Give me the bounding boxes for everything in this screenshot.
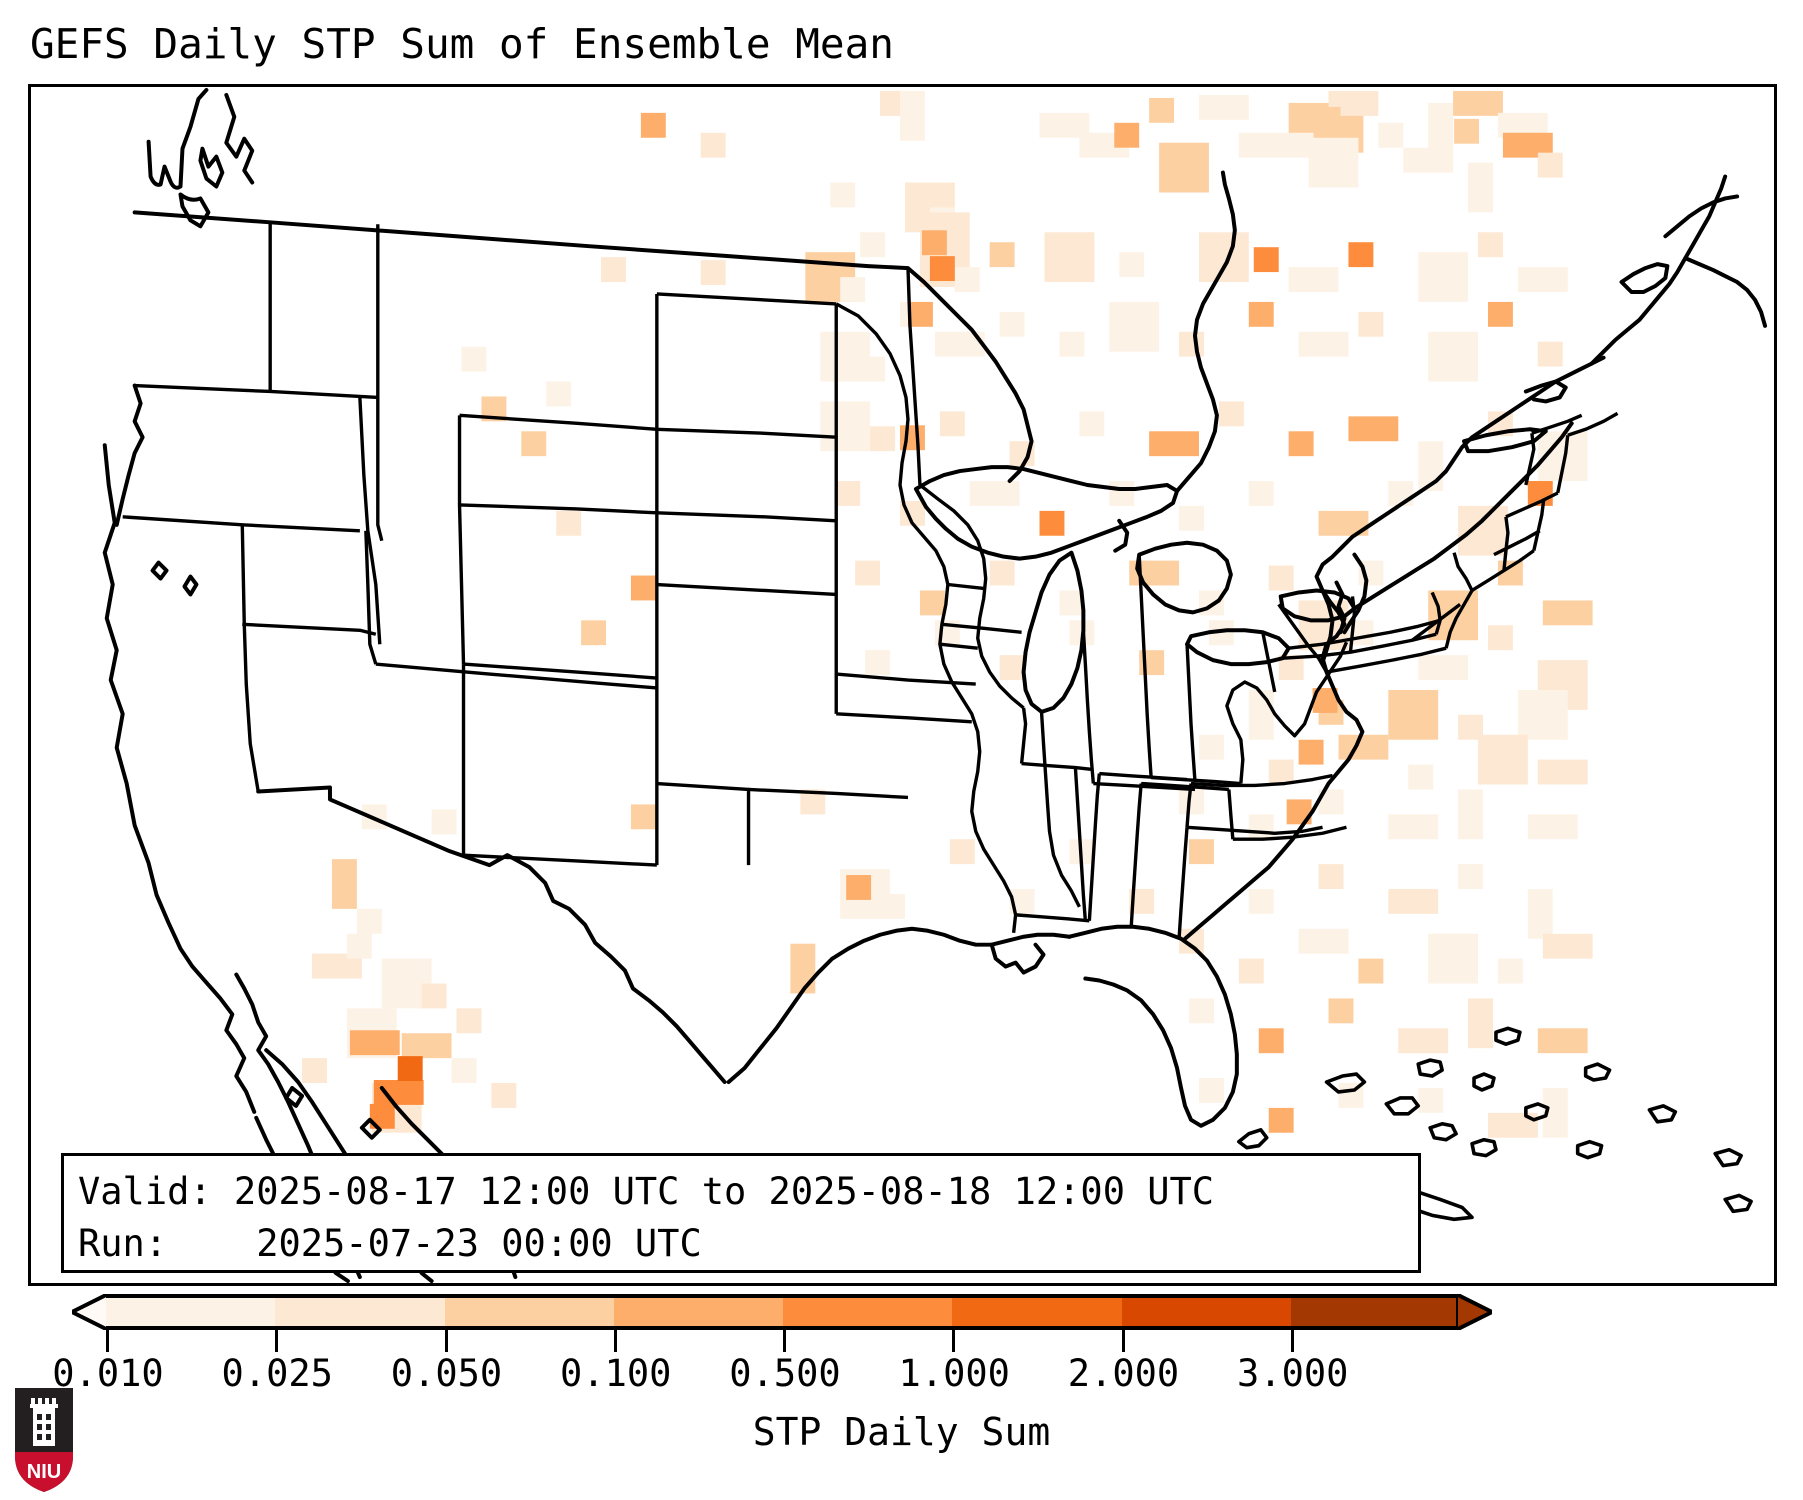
- colorbar-tick-4: [783, 1330, 786, 1352]
- grid-cell: [1045, 232, 1095, 282]
- colorbar-segment-6: [1122, 1298, 1291, 1326]
- grid-cell: [1239, 959, 1264, 984]
- grid-cell: [641, 113, 666, 138]
- grid-cell: [556, 511, 581, 536]
- grid-cell: [1348, 242, 1373, 267]
- colorbar-axis-label: STP Daily Sum: [0, 1410, 1803, 1454]
- grid-cell: [1040, 511, 1065, 536]
- grid-cell: [1388, 814, 1438, 839]
- grid-cell: [1269, 760, 1294, 785]
- grid-cell: [1428, 332, 1478, 382]
- grid-cell: [1149, 431, 1199, 456]
- grid-cell-hotspot: [846, 875, 871, 900]
- colorbar-tick-label-5: 1.000: [899, 1352, 1010, 1395]
- grid-cell: [452, 1058, 477, 1083]
- grid-cell: [1299, 600, 1349, 650]
- grid-cell: [631, 576, 656, 601]
- page-title: GEFS Daily STP Sum of Ensemble Mean: [30, 20, 894, 68]
- grid-cell-hotspot: [1291, 107, 1341, 132]
- grid-cell: [1114, 123, 1139, 148]
- grid-cell: [1119, 252, 1144, 277]
- grid-cell: [457, 1008, 482, 1033]
- grid-cell: [1109, 302, 1159, 352]
- grid-cell: [1254, 247, 1279, 272]
- grid-cell: [1538, 342, 1563, 367]
- grid-cell: [462, 347, 487, 372]
- grid-cell: [1518, 690, 1568, 740]
- grid-cell: [1468, 163, 1493, 213]
- grid-cell: [347, 934, 372, 959]
- grid-cell: [1488, 302, 1513, 327]
- grid-cell: [1249, 814, 1274, 839]
- grid-cell: [1458, 506, 1508, 556]
- grid-cell: [900, 501, 925, 526]
- colorbar-tick-label-2: 0.050: [391, 1352, 502, 1395]
- grid-cell-hotspot: [374, 1080, 424, 1105]
- grid-cell: [1528, 889, 1553, 939]
- grid-cell: [950, 839, 975, 864]
- grid-cell: [1149, 98, 1174, 123]
- grid-cell: [1249, 690, 1274, 740]
- grid-cell: [1010, 889, 1035, 914]
- grid-cell: [860, 232, 885, 257]
- grid-cell: [1319, 511, 1369, 536]
- grid-cell: [1458, 789, 1483, 839]
- colorbar-segment-7: [1291, 1298, 1460, 1326]
- grid-cell: [1498, 959, 1523, 984]
- grid-cell: [1000, 312, 1025, 337]
- grid-cell: [1378, 123, 1403, 148]
- grid-cell: [1189, 839, 1214, 864]
- grid-cell: [1543, 1088, 1568, 1138]
- grid-cell: [855, 561, 880, 586]
- grid-cell: [970, 481, 1020, 506]
- grid-cell: [920, 590, 945, 615]
- grid-cell: [1059, 332, 1084, 357]
- colorbar-segment-5: [952, 1298, 1121, 1326]
- figure-root: GEFS Daily STP Sum of Ensemble Mean Vali…: [0, 0, 1803, 1500]
- grid-cell: [1139, 650, 1164, 675]
- grid-cell: [1408, 765, 1433, 790]
- grid-cell: [1289, 267, 1339, 292]
- grid-cell: [1388, 481, 1413, 506]
- grid-cell: [1069, 620, 1094, 645]
- grid-cell: [1418, 252, 1468, 302]
- grid-cell: [1179, 332, 1204, 357]
- grid-cell: [1189, 998, 1214, 1023]
- grid-cell-hotspot: [398, 1056, 423, 1081]
- grid-cell: [1000, 655, 1025, 680]
- colorbar-tick-3: [614, 1330, 617, 1352]
- grid-cell: [1299, 929, 1349, 954]
- grid-cell: [1129, 889, 1154, 914]
- grid-cell: [701, 260, 726, 285]
- grid-cell: [1478, 232, 1503, 257]
- grid-cell: [1468, 998, 1493, 1048]
- grid-cell: [332, 859, 357, 909]
- grid-cell: [870, 426, 895, 451]
- grid-cell: [1358, 312, 1383, 337]
- colorbar-segment-4: [783, 1298, 952, 1326]
- grid-cell: [1388, 690, 1438, 740]
- map-panel[interactable]: Valid: 2025-08-17 12:00 UTC to 2025-08-1…: [28, 84, 1777, 1286]
- grid-cell: [1388, 889, 1438, 914]
- grid-cell: [1289, 431, 1314, 456]
- grid-cell: [1179, 789, 1204, 814]
- grid-cell: [1319, 789, 1344, 814]
- grid-cell: [1453, 91, 1503, 116]
- grid-cell-hotspot: [350, 1030, 400, 1055]
- colorbar-tick-label-1: 0.025: [222, 1352, 333, 1395]
- grid-cell: [1428, 934, 1478, 984]
- grid-cell: [432, 809, 457, 834]
- grid-cell: [1403, 148, 1453, 173]
- grid-cell: [1059, 590, 1084, 615]
- grid-cell-hotspot: [1299, 740, 1324, 765]
- colorbar-tick-label-4: 0.500: [729, 1352, 840, 1395]
- colorbar-tick-label-6: 2.000: [1068, 1352, 1179, 1395]
- grid-cell: [820, 401, 870, 451]
- grid-cell: [1179, 929, 1204, 954]
- grid-cell-hotspot: [908, 302, 933, 327]
- grid-cell-hotspot: [1287, 799, 1312, 824]
- grid-cell-hotspot: [900, 425, 925, 450]
- grid-cell: [1358, 561, 1383, 586]
- colorbar-under-arrow: [72, 1294, 108, 1330]
- grid-cell: [1538, 153, 1563, 178]
- grid-cell: [1348, 620, 1373, 645]
- grid-cell: [1498, 561, 1523, 586]
- grid-cell: [1109, 481, 1134, 506]
- grid-cell: [581, 620, 606, 645]
- niu-logo: NIU: [13, 1386, 75, 1494]
- grid-cell: [1538, 760, 1588, 785]
- grid-cell: [1528, 814, 1578, 839]
- grid-cell: [1398, 1028, 1448, 1053]
- grid-cell: [1199, 735, 1224, 760]
- colorbar-tick-1: [275, 1330, 278, 1352]
- grid-cell: [1259, 1028, 1284, 1053]
- grid-cell: [880, 894, 905, 919]
- grid-cell: [1428, 590, 1478, 640]
- colorbar-segment-1: [275, 1298, 444, 1326]
- grid-cell: [1528, 481, 1553, 506]
- colorbar-tick-6: [1122, 1330, 1125, 1352]
- grid-cell: [601, 257, 626, 282]
- grid-cell: [1179, 506, 1204, 531]
- grid-cell: [900, 91, 925, 141]
- grid-cell: [1338, 735, 1388, 760]
- grid-cell: [1129, 561, 1179, 586]
- colorbar-segments: [106, 1294, 1460, 1330]
- grid-cell: [865, 650, 890, 675]
- grid-cell: [1358, 959, 1383, 984]
- grid-cell: [1069, 839, 1094, 864]
- grid-cell: [521, 431, 546, 456]
- grid-cell: [546, 382, 571, 407]
- colorbar-tick-label-3: 0.100: [560, 1352, 671, 1395]
- grid-cell: [1488, 625, 1513, 650]
- grid-cell-hotspot: [930, 256, 955, 281]
- grid-cell: [481, 396, 506, 421]
- colorbar-segment-0: [106, 1298, 275, 1326]
- grid-cell: [1418, 441, 1443, 491]
- grid-cell: [1418, 655, 1468, 680]
- niu-logo-text: NIU: [27, 1461, 61, 1483]
- stp-heatmap-layer: [31, 87, 1774, 1283]
- grid-cell: [835, 481, 860, 506]
- grid-cell: [1309, 138, 1359, 188]
- map-canvas: Valid: 2025-08-17 12:00 UTC to 2025-08-1…: [31, 87, 1774, 1283]
- colorbar-tick-labels: 0.0100.0250.0500.1000.5001.0002.0003.000: [0, 1352, 1803, 1398]
- grid-cell: [631, 804, 656, 829]
- grid-cell: [1329, 998, 1354, 1023]
- grid-cell: [1418, 1088, 1443, 1113]
- grid-cell: [1299, 332, 1349, 357]
- colorbar-tick-0: [106, 1330, 109, 1352]
- grid-cell: [1199, 1078, 1224, 1103]
- grid-cell: [1239, 133, 1314, 158]
- colorbar-ticks: [72, 1330, 1492, 1352]
- grid-cell: [1199, 590, 1224, 615]
- grid-cell: [1458, 864, 1483, 889]
- grid-cell: [362, 804, 387, 829]
- colorbar-tick-5: [952, 1330, 955, 1352]
- grid-cell-hotspot: [1454, 119, 1479, 144]
- grid-cell: [1249, 302, 1274, 327]
- grid-cell: [860, 357, 885, 382]
- colorbar-tick-2: [445, 1330, 448, 1352]
- grid-cell: [1338, 1083, 1363, 1108]
- grid-cell: [990, 242, 1015, 267]
- grid-cell: [940, 411, 965, 436]
- valid-run-info-box: Valid: 2025-08-17 12:00 UTC to 2025-08-1…: [61, 1153, 1421, 1273]
- grid-cell: [990, 561, 1015, 586]
- grid-cell: [1219, 401, 1244, 426]
- grid-cell: [1079, 411, 1104, 436]
- grid-cell: [422, 984, 447, 1009]
- grid-cell: [1249, 889, 1274, 914]
- grid-cell: [1209, 620, 1234, 645]
- grid-cell: [830, 183, 855, 208]
- grid-cell: [1159, 143, 1209, 193]
- grid-cell: [1428, 103, 1453, 153]
- grid-cell: [1478, 735, 1528, 785]
- grid-cell: [491, 1083, 516, 1108]
- colorbar-segment-2: [445, 1298, 614, 1326]
- grid-cell: [1518, 267, 1568, 292]
- grid-cell: [1199, 95, 1249, 120]
- grid-cell: [1538, 431, 1588, 481]
- grid-cell: [1279, 655, 1304, 680]
- colorbar-segment-3: [614, 1298, 783, 1326]
- grid-cell: [1543, 600, 1593, 625]
- grid-cell: [402, 1033, 452, 1058]
- grid-cell-hotspot: [370, 1104, 395, 1129]
- grid-cell: [1348, 416, 1398, 441]
- grid-cell-hotspot: [1313, 688, 1338, 713]
- grid-cell: [935, 332, 985, 357]
- grid-cell: [1488, 1113, 1538, 1138]
- grid-cell: [955, 267, 980, 292]
- grid-cell: [1543, 934, 1593, 959]
- grid-cell: [800, 789, 825, 814]
- grid-cell: [701, 133, 726, 158]
- grid-cell: [1010, 441, 1035, 466]
- grid-cell-hotspot: [922, 230, 947, 255]
- grid-cell: [1249, 481, 1274, 506]
- run-time-line: Run: 2025-07-23 00:00 UTC: [78, 1218, 1404, 1270]
- colorbar-tick-7: [1291, 1330, 1294, 1352]
- colorbar-tick-label-7: 3.000: [1237, 1352, 1348, 1395]
- valid-time-line: Valid: 2025-08-17 12:00 UTC to 2025-08-1…: [78, 1166, 1404, 1218]
- grid-cell: [302, 1058, 327, 1083]
- grid-cell: [357, 909, 382, 934]
- colorbar-over-arrow: [1456, 1294, 1492, 1330]
- grid-cell: [1488, 411, 1513, 436]
- grid-cell: [1199, 232, 1249, 282]
- grid-cell: [1269, 1108, 1294, 1133]
- grid-cell: [1538, 1028, 1588, 1053]
- grid-cell: [790, 944, 815, 994]
- grid-cell: [1269, 566, 1294, 591]
- grid-cell: [935, 620, 960, 645]
- grid-cell: [840, 277, 865, 302]
- grid-cell: [1319, 864, 1344, 889]
